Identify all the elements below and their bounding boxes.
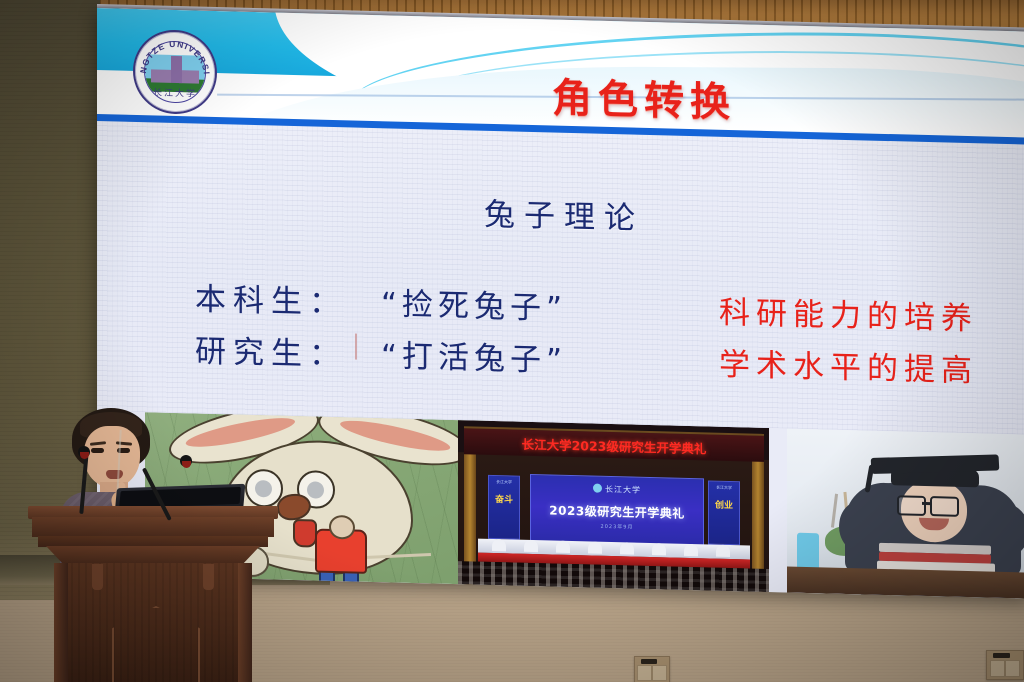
slide-row-undergrad: 本科生：“捡死兔子”	[195, 273, 567, 327]
socket-outlet	[990, 660, 1006, 677]
socket-switch-bar	[993, 653, 1010, 659]
podium-bracket	[203, 564, 214, 590]
socket-outlet	[637, 665, 652, 681]
logo-arc-text: YANGTZE UNIVERSITY	[135, 31, 212, 76]
photo-gap	[769, 428, 787, 592]
stage-seat	[652, 543, 666, 555]
cursor-tick-mark	[355, 334, 357, 360]
logo-chinese-name: 长江大学	[145, 85, 205, 100]
glasses-bridge-icon	[922, 502, 930, 505]
child-head	[329, 515, 355, 540]
podium-front-lip	[32, 517, 274, 537]
stage-seat	[588, 541, 602, 553]
stage-seat	[620, 542, 634, 554]
socket-outlet	[1005, 660, 1021, 677]
ceremony-banner-text: 长江大学2023级研究生开学典礼	[464, 432, 764, 459]
presenter-eye	[91, 448, 104, 453]
row-label: 研究生：	[195, 333, 347, 373]
microphone-head-icon	[180, 455, 192, 467]
ceremony-led-screen: 长江大学 2023级研究生开学典礼 2023年9月	[530, 474, 704, 550]
socket-outlet	[652, 665, 667, 681]
side-panel-text: 创业	[709, 499, 739, 512]
microphone-head-icon	[78, 446, 90, 458]
stage-seat	[716, 545, 730, 557]
row-quote: “打活兔子”	[381, 338, 567, 379]
lecture-hall-scene: 角色转换 长江大学 YANGTZE UNIVERSITY 兔子理论 本科生：“捡…	[0, 0, 1024, 682]
rabbit-mouth	[293, 519, 317, 548]
ceremony-side-panel-right: 长江大学 创业	[708, 480, 740, 545]
socket-switch-bar	[641, 659, 657, 664]
podium-pilaster	[54, 563, 68, 682]
led-sub-text: 2023年9月	[531, 521, 703, 532]
slide-title: 角色转换	[552, 66, 736, 129]
stage-seat	[556, 541, 570, 553]
ceremony-hall: 长江大学2023级研究生开学典礼 长江大学 奋斗 长江大学 创业 长江大学	[458, 420, 770, 592]
led-university-logo: 长江大学	[531, 482, 703, 497]
slide-row-graduate: 研究生：“打活兔子”	[195, 325, 567, 379]
university-logo: 长江大学 YANGTZE UNIVERSITY	[133, 29, 217, 115]
slide-subtitle: 兔子理论	[97, 179, 1024, 248]
logo-arc-text-icon: YANGTZE UNIVERSITY	[135, 31, 215, 113]
slide-note-undergrad: 科研能力的培养	[719, 287, 978, 339]
glasses-lens-right-icon	[930, 496, 959, 517]
side-panel-logo: 长江大学	[489, 479, 519, 486]
podium-band	[38, 536, 268, 547]
led-main-text: 2023级研究生开学典礼	[531, 501, 703, 522]
row-label: 本科生：	[195, 281, 347, 321]
wooden-podium	[28, 506, 278, 682]
ceremony-photo: 长江大学2023级研究生开学典礼 长江大学 奋斗 长江大学 创业 长江大学	[458, 420, 770, 592]
graduate-photo	[787, 428, 1024, 598]
podium-taper	[46, 546, 260, 564]
ceremony-side-panel-left: 长江大学 奋斗	[488, 475, 520, 540]
led-logo-mark-icon	[593, 484, 602, 493]
glasses-lens-left-icon	[897, 495, 926, 516]
led-logo-text: 长江大学	[605, 485, 641, 495]
wall-socket-left	[634, 656, 670, 682]
svg-text:YANGTZE UNIVERSITY: YANGTZE UNIVERSITY	[135, 31, 212, 76]
side-panel-text: 奋斗	[489, 494, 519, 507]
row-quote: “捡死兔子”	[381, 286, 567, 327]
presenter-mouth	[106, 470, 123, 479]
stage-seat	[492, 539, 506, 551]
podium-bracket	[92, 564, 103, 590]
stage-seat	[524, 540, 538, 552]
stage-seat	[684, 544, 698, 556]
slide-note-graduate: 学术水平的提高	[719, 339, 978, 391]
slide-body: 兔子理论 本科生：“捡死兔子” 研究生：“打活兔子” 科研能力的培养 学术水平的…	[97, 121, 1024, 435]
podium-pilaster	[238, 563, 252, 682]
side-panel-logo: 长江大学	[709, 484, 739, 491]
wall-socket-right	[986, 650, 1024, 680]
